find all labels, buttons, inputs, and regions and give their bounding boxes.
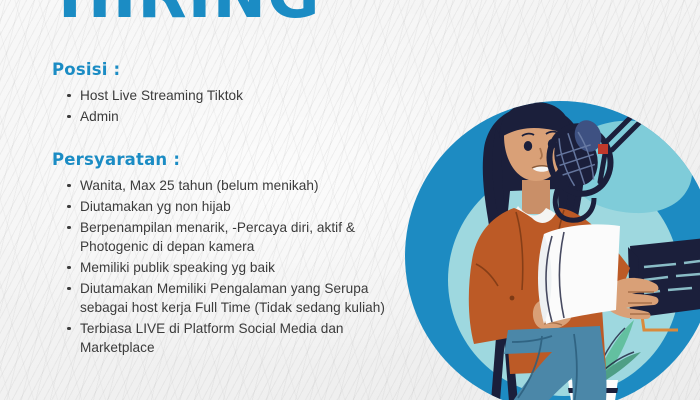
- list-item: Diutamakan Memiliki Pengalaman yang Seru…: [52, 279, 392, 317]
- list-item: Memiliki publik speaking yg baik: [52, 258, 392, 277]
- eye-left: [524, 141, 532, 151]
- list-item: Diutamakan yg non hijab: [52, 197, 392, 216]
- content-column: Posisi : Host Live Streaming Tiktok Admi…: [52, 60, 392, 359]
- list-item: Terbiasa LIVE di Platform Social Media d…: [52, 319, 392, 357]
- page-title: HIRING: [58, 0, 321, 28]
- section-heading-posisi: Posisi :: [52, 60, 392, 79]
- script-papers: [538, 224, 620, 324]
- list-item: Admin: [52, 107, 392, 126]
- hiring-poster: HIRING Posisi : Host Live Streaming Tikt…: [0, 0, 700, 400]
- live-streaming-host-illustration: [392, 84, 700, 400]
- clamp-accent: [598, 144, 608, 154]
- list-item: Berpenampilan menarik, -Percaya diri, ak…: [52, 218, 392, 256]
- list-item: Wanita, Max 25 tahun (belum menikah): [52, 176, 392, 195]
- list-item: Host Live Streaming Tiktok: [52, 86, 392, 105]
- requirements-list: Wanita, Max 25 tahun (belum menikah) Diu…: [52, 176, 392, 357]
- section-heading-persyaratan: Persyaratan :: [52, 150, 392, 169]
- position-list: Host Live Streaming Tiktok Admin: [52, 86, 392, 126]
- section-spacer: [52, 128, 392, 150]
